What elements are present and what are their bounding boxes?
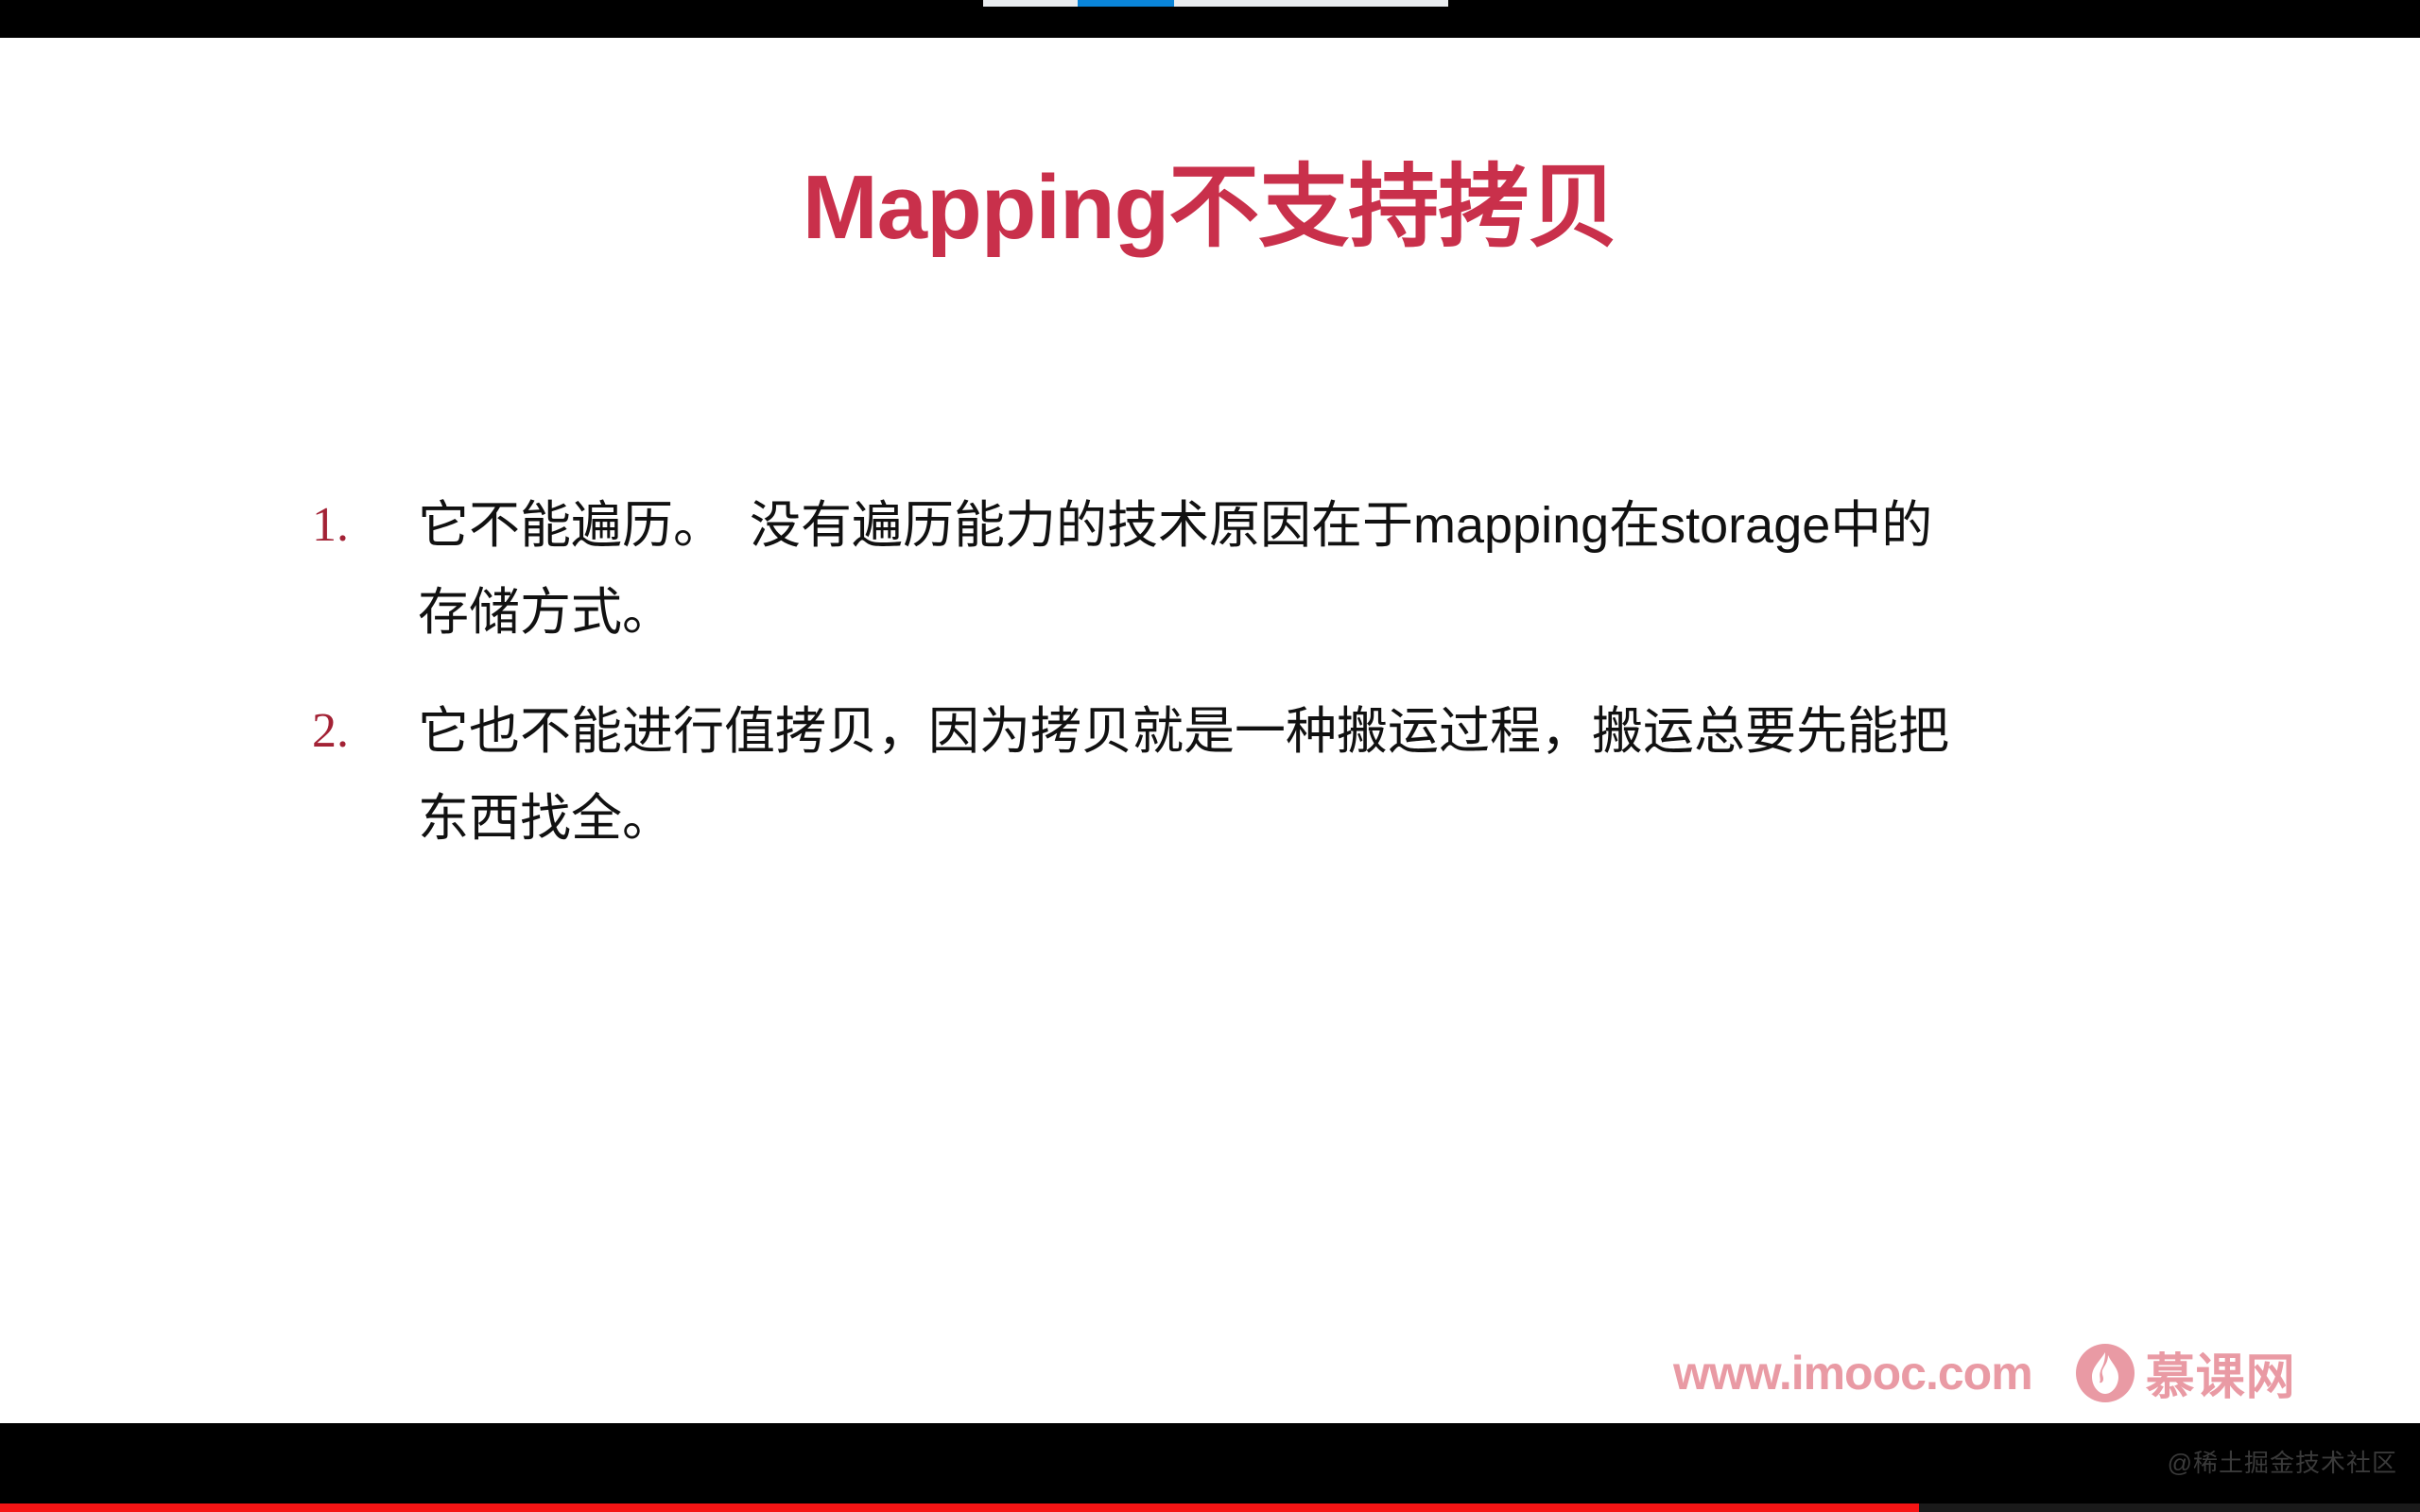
slide-bullet-list: 1. 它不能遍历。 没有遍历能力的技术原因在于mapping在storage中的…	[312, 482, 2212, 894]
list-item: 2. 它也不能进行值拷贝，因为拷贝就是一种搬运过程，搬运总要先能把 东西找全。	[312, 688, 2212, 862]
slide-title: Mapping不支持拷贝	[0, 161, 2420, 256]
list-item-line: 它不能遍历。 没有遍历能力的技术原因在于mapping在storage中的	[418, 482, 2212, 569]
list-item-marker: 2.	[312, 688, 418, 775]
video-player-viewport: Mapping不支持拷贝 1. 它不能遍历。 没有遍历能力的技术原因在于mapp…	[0, 0, 2420, 1512]
list-item-line: 东西找全。	[418, 775, 2212, 862]
brand-name-cn: 慕课网	[2146, 1337, 2296, 1408]
seek-bar-buffer	[983, 0, 1448, 7]
seek-bar-progress-segment[interactable]	[1078, 0, 1174, 7]
list-item-line: 存储方式。	[418, 569, 2212, 656]
list-item-text: 它不能遍历。 没有遍历能力的技术原因在于mapping在storage中的 存储…	[418, 482, 2212, 656]
video-progress-track[interactable]	[0, 1503, 2420, 1512]
video-seek-bar[interactable]	[983, 0, 1448, 7]
brand-url: www.imooc.com	[1673, 1346, 2032, 1400]
video-progress-fill	[0, 1503, 1919, 1512]
presentation-slide: Mapping不支持拷贝 1. 它不能遍历。 没有遍历能力的技术原因在于mapp…	[0, 38, 2420, 1423]
list-item-line: 它也不能进行值拷贝，因为拷贝就是一种搬运过程，搬运总要先能把	[418, 688, 2212, 775]
watermark-text: @稀土掘金技术社区	[2168, 1444, 2397, 1479]
flame-icon	[2076, 1344, 2135, 1402]
list-item: 1. 它不能遍历。 没有遍历能力的技术原因在于mapping在storage中的…	[312, 482, 2212, 656]
list-item-marker: 1.	[312, 482, 418, 569]
player-control-bar: @稀土掘金技术社区	[0, 1423, 2420, 1512]
list-item-text: 它也不能进行值拷贝，因为拷贝就是一种搬运过程，搬运总要先能把 东西找全。	[418, 688, 2212, 862]
brand-logo: 慕课网	[2076, 1337, 2296, 1408]
brand-block: www.imooc.com 慕课网	[1673, 1337, 2296, 1408]
